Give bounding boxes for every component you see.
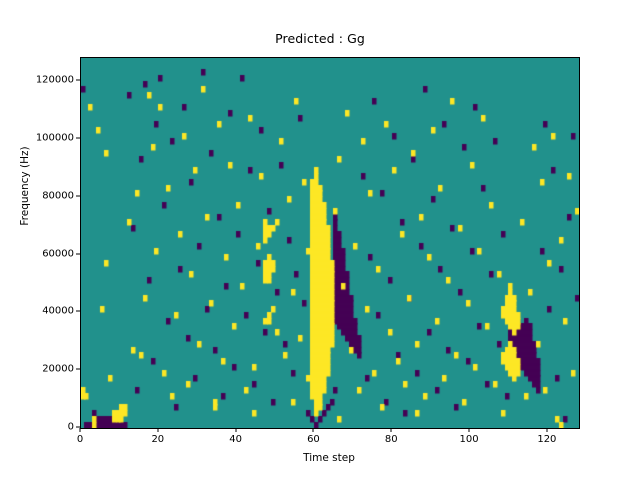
x-tick-mark: [313, 428, 314, 432]
x-tick-mark: [157, 428, 158, 432]
y-tick-mark: [76, 80, 80, 81]
x-tick-mark: [469, 428, 470, 432]
y-tick-label: 60000: [42, 248, 74, 259]
x-tick-label: 100: [460, 434, 479, 445]
y-tick-mark: [76, 253, 80, 254]
x-tick-mark: [546, 428, 547, 432]
x-tick-mark: [391, 428, 392, 432]
y-tick-mark: [76, 369, 80, 370]
y-tick-label: 100000: [36, 132, 74, 143]
x-tick-label: 80: [385, 434, 398, 445]
y-tick-label: 40000: [42, 306, 74, 317]
x-tick-label: 40: [229, 434, 242, 445]
y-tick-label: 0: [68, 422, 74, 433]
y-axis-label: Frequency (Hz): [19, 1, 31, 371]
x-tick-mark: [80, 428, 81, 432]
y-axis-tick-labels: 020000400006000080000100000120000: [0, 57, 74, 427]
x-tick-label: 20: [151, 434, 164, 445]
heatmap-axes: [80, 57, 580, 429]
y-tick-label: 80000: [42, 190, 74, 201]
y-tick-mark: [76, 311, 80, 312]
x-axis-label: Time step: [80, 452, 578, 464]
y-tick-label: 20000: [42, 364, 74, 375]
x-tick-label: 120: [537, 434, 556, 445]
y-tick-label: 120000: [36, 75, 74, 86]
y-tick-mark: [76, 195, 80, 196]
x-tick-label: 0: [77, 434, 83, 445]
y-tick-mark: [76, 137, 80, 138]
x-tick-label: 60: [307, 434, 320, 445]
heatmap-image: [81, 58, 579, 428]
x-tick-mark: [235, 428, 236, 432]
matplotlib-figure: Predicted : Gg 0200004000060000800001000…: [0, 0, 640, 480]
x-axis-tick-labels: 020406080100120: [80, 429, 578, 449]
page-title: Predicted : Gg: [0, 31, 640, 46]
